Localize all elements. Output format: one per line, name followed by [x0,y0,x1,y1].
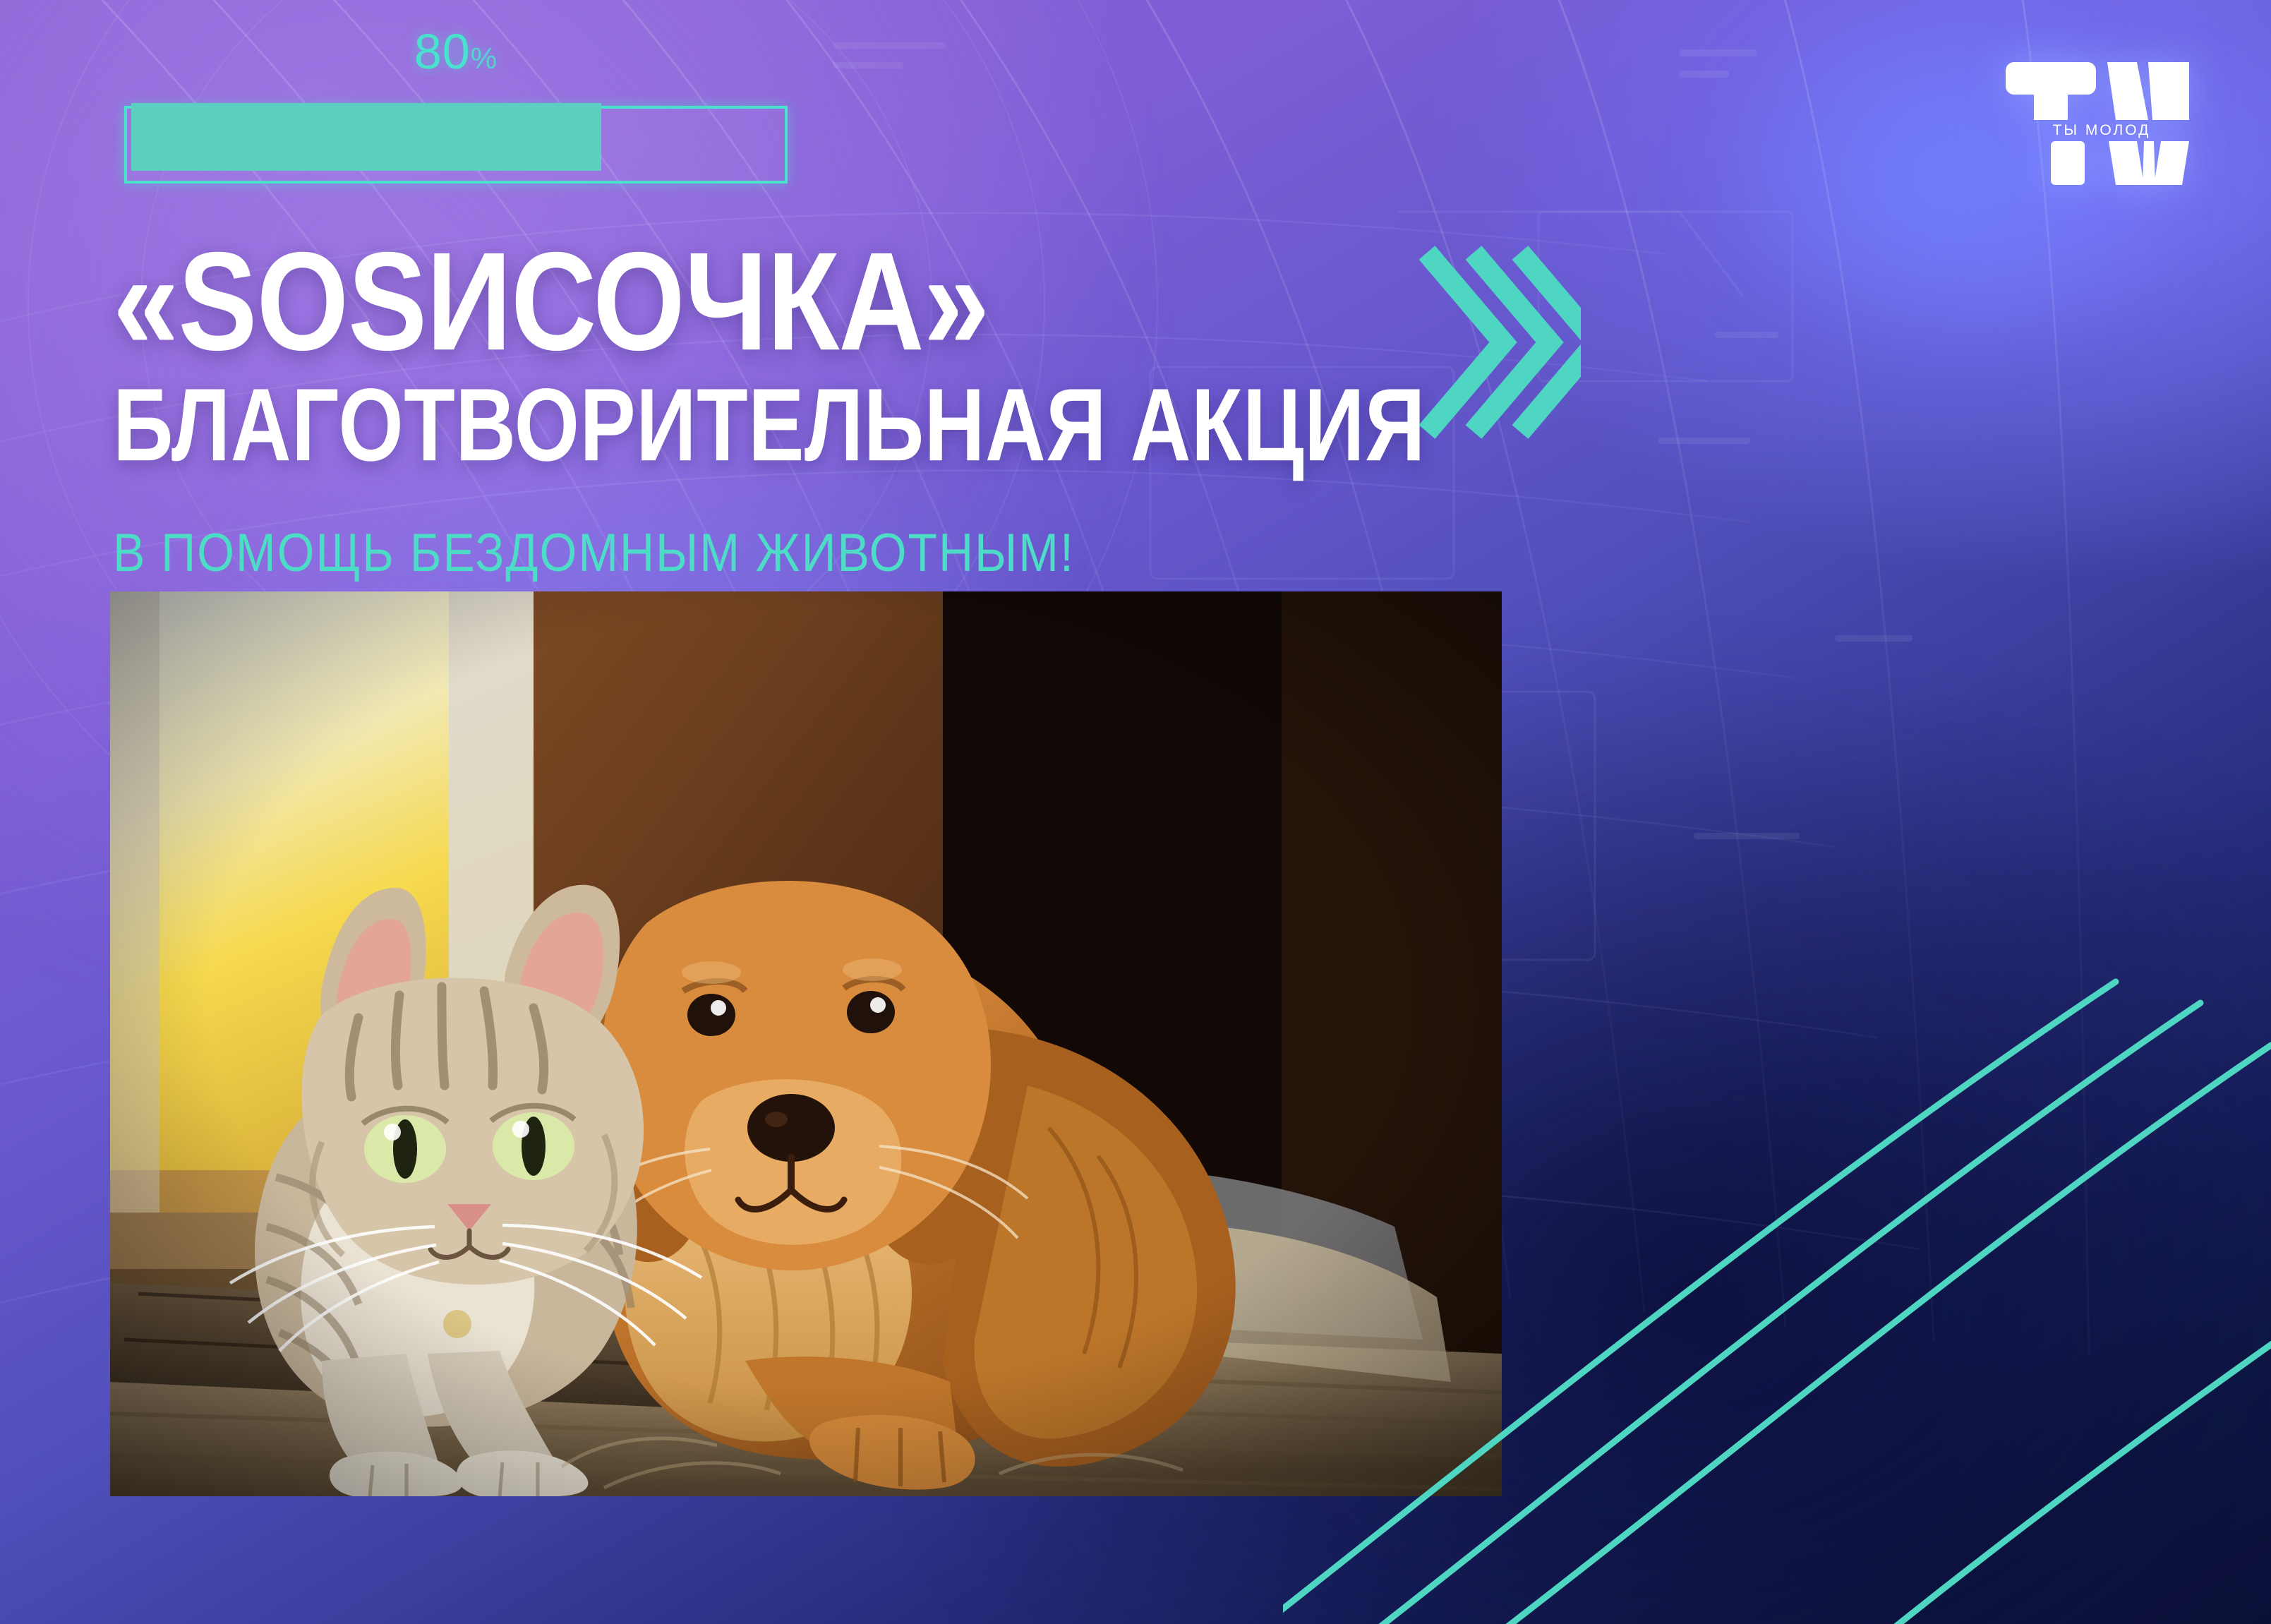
poster-canvas: 80% «SOSИСОЧКА» БЛАГОТВОРИТЕЛЬНАЯ АКЦИЯ … [0,0,2271,1624]
headline-block: «SOSИСОЧКА» БЛАГОТВОРИТЕЛЬНАЯ АКЦИЯ В ПО… [113,233,1560,574]
progress-bar-track [124,106,788,184]
photo-cat-and-dog [110,591,1502,1496]
poster-title: «SOSИСОЧКА» [113,233,1560,370]
progress-indicator: 80% [124,106,788,184]
progress-percent-symbol: % [471,42,498,75]
progress-percent-label: 80% [124,27,788,76]
logo-wordmark-text: ТЫ МОЛОД [2053,122,2151,138]
chevron-right-icon [1418,240,1581,445]
logo-ty-molod: ТЫ МОЛОД [1996,41,2207,203]
progress-bar-fill [131,103,601,171]
poster-subtitle: БЛАГОТВОРИТЕЛЬНАЯ АКЦИЯ [113,373,1546,476]
poster-tagline: В ПОМОЩЬ БЕЗДОМНЫМ ЖИВОТНЫМ! [113,526,1560,579]
progress-percent-value: 80 [414,24,471,79]
